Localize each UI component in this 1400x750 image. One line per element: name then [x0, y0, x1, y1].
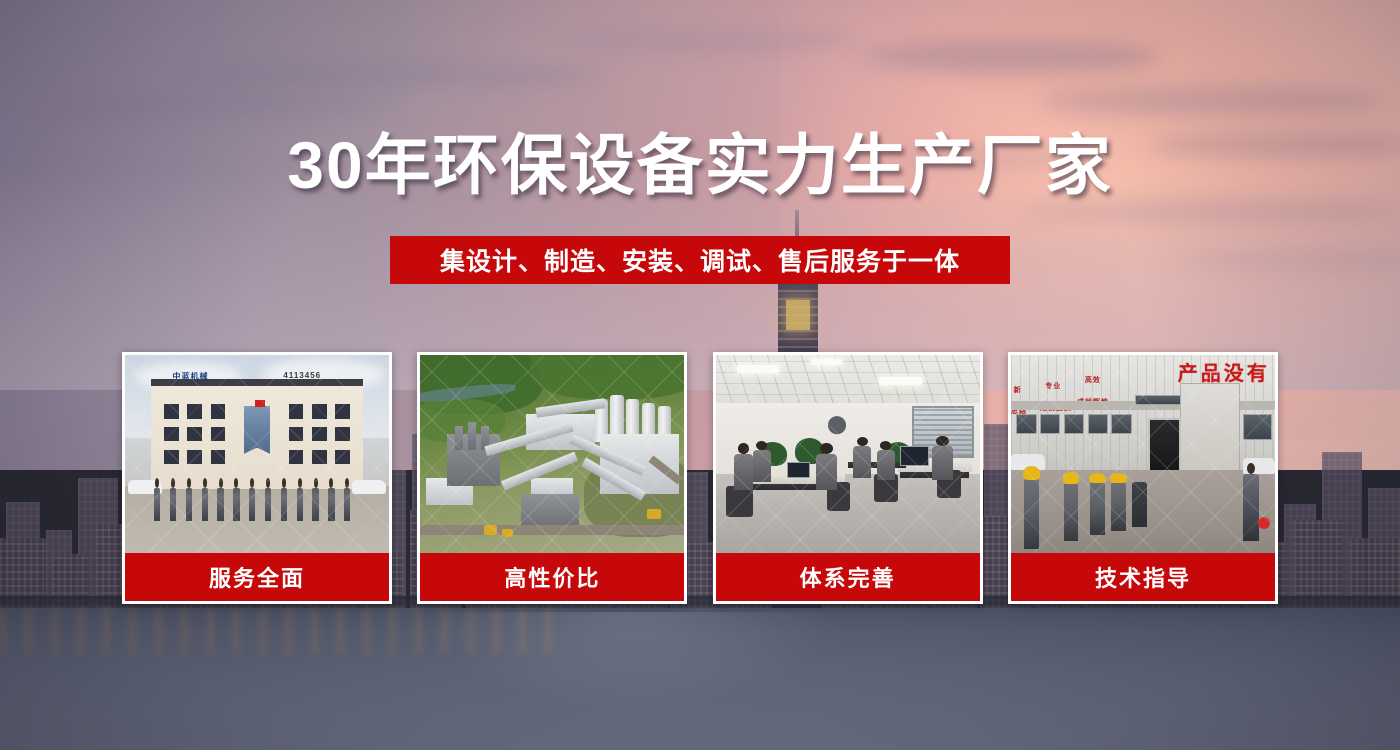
cloud	[1040, 86, 1380, 116]
window	[289, 427, 304, 441]
window	[187, 404, 202, 418]
window	[335, 404, 350, 418]
card-caption-service: 服务全面	[125, 553, 389, 601]
staff-person	[249, 488, 255, 522]
window	[211, 404, 226, 418]
office-person	[734, 454, 752, 490]
window	[187, 427, 202, 441]
card-photo-office-interior	[716, 355, 980, 553]
worker	[1064, 482, 1079, 541]
promo-banner-stage: 30年环保设备实力生产厂家 集设计、制造、安装、调试、售后服务于一体	[0, 0, 1400, 750]
feature-card-system[interactable]: 体系完善	[713, 352, 983, 604]
window	[164, 404, 179, 418]
ceiling-lamp	[737, 365, 779, 373]
card-photo-plant-aerial	[420, 355, 684, 553]
window	[164, 427, 179, 441]
window	[1016, 414, 1036, 434]
entrance-pediment	[236, 448, 278, 458]
window	[211, 427, 226, 441]
feature-card-row: 中蓝机械 4113456	[122, 352, 1278, 604]
field	[531, 355, 684, 399]
hard-hat	[1063, 472, 1080, 484]
supervisor	[1243, 474, 1259, 541]
flag	[255, 400, 266, 407]
office-person	[816, 454, 837, 490]
excavator	[484, 525, 497, 535]
hard-hat	[1089, 473, 1106, 484]
worker	[1132, 482, 1147, 528]
cloud	[40, 96, 400, 116]
cloud	[560, 30, 860, 52]
staff-person	[281, 488, 287, 522]
shed	[521, 494, 579, 530]
road	[420, 525, 684, 535]
window	[1040, 414, 1060, 434]
window	[312, 450, 327, 464]
window	[335, 427, 350, 441]
water-sheen	[420, 612, 840, 712]
factory-slogan-col2: 专业	[1045, 383, 1061, 392]
window	[289, 404, 304, 418]
silo	[610, 395, 623, 439]
feature-card-value[interactable]: 高性价比	[417, 352, 687, 604]
card-photo-office-building: 中蓝机械 4113456	[125, 355, 389, 553]
cloud	[860, 40, 1160, 74]
factory-slogan-col3: 高效	[1085, 377, 1101, 386]
building-sign-text: 中蓝机械	[173, 371, 209, 382]
factory-slogan-col1: 新	[1014, 387, 1022, 396]
office-person	[753, 450, 771, 482]
chair	[726, 486, 752, 518]
photo-base	[716, 355, 980, 553]
window	[335, 450, 350, 464]
photo-base: 产品没有 新 思路 专业 成就品质 高效 成就辉煌	[1011, 355, 1275, 553]
window	[187, 450, 202, 464]
office-building	[151, 379, 362, 489]
stack	[455, 426, 463, 450]
tower-crown-light	[786, 300, 810, 330]
staff-person	[186, 488, 192, 522]
office-person	[853, 446, 871, 478]
card-caption-system: 体系完善	[716, 553, 980, 601]
office-person	[932, 446, 953, 480]
hard-hat	[1023, 466, 1040, 480]
staff-person	[265, 488, 271, 522]
factory-door	[1148, 418, 1181, 473]
window	[312, 427, 327, 441]
hard-hat	[1110, 473, 1127, 483]
card-photo-workers-factory: 产品没有 新 思路 专业 成就品质 高效 成就辉煌	[1011, 355, 1275, 553]
window	[164, 450, 179, 464]
laptop	[787, 462, 810, 478]
subtitle-banner: 集设计、制造、安装、调试、售后服务于一体	[390, 236, 1010, 284]
ceiling-lamp	[879, 377, 921, 385]
window	[312, 404, 327, 418]
staff-person	[170, 488, 176, 522]
staff-person	[233, 488, 239, 522]
staff-person	[344, 488, 350, 522]
page-title: 30年环保设备实力生产厂家	[0, 132, 1400, 198]
window	[1111, 414, 1131, 434]
feature-card-service[interactable]: 中蓝机械 4113456	[122, 352, 392, 604]
window	[1064, 414, 1084, 434]
window	[1088, 414, 1108, 434]
card-caption-value: 高性价比	[420, 553, 684, 601]
card-caption-training: 技术指导	[1011, 553, 1275, 601]
stack	[468, 422, 476, 450]
window	[289, 450, 304, 464]
feature-card-training[interactable]: 产品没有 新 思路 专业 成就品质 高效 成就辉煌	[1008, 352, 1278, 604]
worker	[1111, 482, 1126, 532]
building-phone-text: 4113456	[283, 371, 321, 380]
wall-logo	[821, 414, 853, 442]
excavator	[502, 529, 513, 537]
red-helmet	[1258, 517, 1270, 529]
ceiling-lamp	[811, 359, 843, 365]
staff-person	[202, 488, 208, 522]
staff-person	[312, 488, 318, 522]
factory-slogan-main: 产品没有	[1178, 357, 1270, 386]
car	[352, 480, 386, 494]
worker	[1090, 482, 1105, 535]
worker	[1024, 478, 1039, 549]
staff-person	[154, 488, 160, 522]
office-person	[877, 450, 895, 480]
window	[1243, 414, 1271, 440]
roller-door	[1180, 383, 1240, 472]
ceiling-grid	[716, 355, 980, 406]
photo-base: 中蓝机械 4113456	[125, 355, 389, 553]
window	[211, 450, 226, 464]
staff-person	[217, 488, 223, 522]
monitor	[900, 446, 928, 466]
photo-base	[420, 355, 684, 553]
excavator	[647, 509, 660, 519]
staff-person	[297, 488, 303, 522]
staff-person	[328, 488, 334, 522]
cloud	[180, 62, 600, 88]
